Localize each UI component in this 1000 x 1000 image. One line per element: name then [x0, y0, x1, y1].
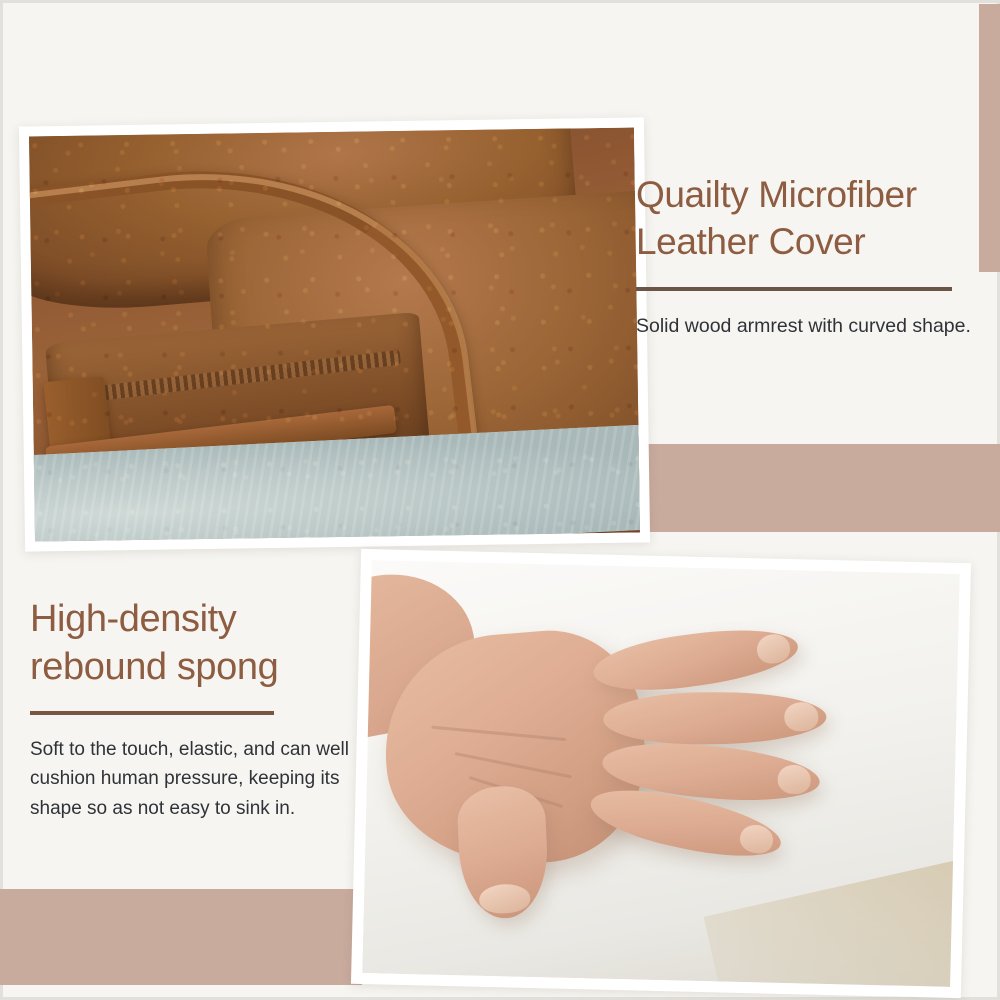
- index-fingernail: [755, 633, 791, 666]
- foam-edge-shadow: [703, 858, 959, 987]
- sofa-scene: [29, 128, 640, 542]
- frame-line-left: [0, 0, 3, 1000]
- index-finger: [591, 620, 802, 699]
- ring-fingernail: [777, 763, 812, 795]
- feature-headline: Quailty Microfiber Leather Cover: [636, 172, 978, 265]
- feature-divider-rule: [636, 287, 952, 291]
- frame-line-top: [0, 0, 1000, 3]
- photo-leather-armrest: [29, 128, 640, 542]
- feature-headline: High-density rebound spong: [30, 596, 360, 691]
- decor-horizontal-band-bottom-left: [0, 889, 362, 985]
- feature-text-quality-microfiber: Quailty Microfiber Leather Cover Solid w…: [636, 172, 978, 342]
- photo-card-leather-armrest: [19, 117, 650, 551]
- photo-card-rebound-foam: [351, 549, 971, 998]
- feature-headline-line-1: High-density: [30, 596, 360, 644]
- thumb: [456, 784, 550, 920]
- feature-headline-line-2: Leather Cover: [636, 219, 978, 266]
- decor-horizontal-band-right: [636, 444, 1000, 532]
- thumbnail: [478, 883, 530, 914]
- middle-fingernail: [784, 702, 818, 731]
- feature-divider-rule: [30, 711, 274, 715]
- leather-grain-texture: [29, 128, 640, 542]
- feature-body-text: Soft to the touch, elastic, and can well…: [30, 735, 360, 823]
- palm-vein-1: [431, 726, 565, 742]
- photo-hand-on-foam: [362, 560, 960, 987]
- feature-headline-line-2: rebound spong: [30, 644, 360, 692]
- feature-body-text: Solid wood armrest with curved shape.: [636, 312, 978, 342]
- foam-scene: [362, 560, 960, 987]
- palm-vein-2: [455, 752, 572, 778]
- feature-text-high-density-foam: High-density rebound spong Soft to the t…: [30, 596, 360, 823]
- feature-headline-line-1: Quailty Microfiber: [636, 172, 978, 219]
- product-feature-infographic: Quailty Microfiber Leather Cover Solid w…: [0, 0, 1000, 1000]
- decor-vertical-bar-top-right: [979, 4, 1000, 272]
